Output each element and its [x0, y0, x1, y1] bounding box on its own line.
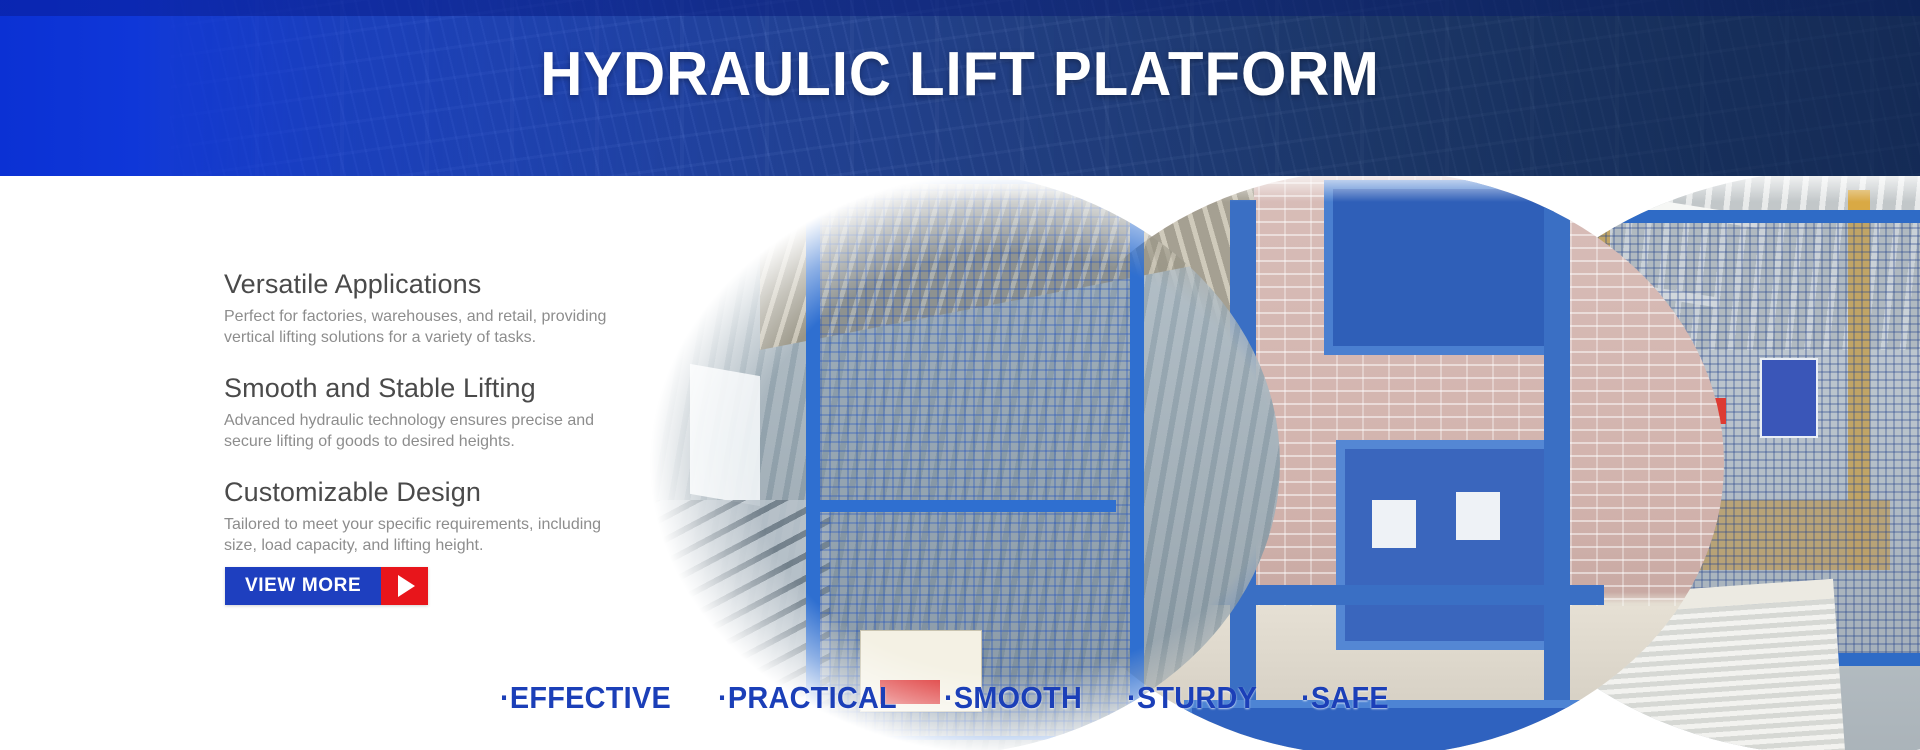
feature-desc-3: Tailored to meet your specific requireme…: [224, 514, 624, 556]
feature-desc-1: Perfect for factories, warehouses, and r…: [224, 306, 624, 348]
keyword-safe: ·SAFE: [1301, 680, 1389, 716]
page-title: HYDRAULIC LIFT PLATFORM: [58, 44, 1863, 106]
keyword-effective: ·EFFECTIVE: [500, 680, 671, 716]
feature-item-1: Versatile Applications Perfect for facto…: [224, 268, 654, 348]
feature-desc-2: Advanced hydraulic technology ensures pr…: [224, 410, 624, 452]
keyword-sturdy: ·STURDY: [1127, 680, 1257, 716]
photo2-pane-b: [1456, 492, 1500, 540]
product-photo-1: [640, 176, 1280, 750]
view-more-label[interactable]: VIEW MORE: [225, 567, 381, 605]
photo2-lower-gate: [1336, 440, 1566, 650]
keyword-list: ·EFFECTIVE ·PRACTICAL ·SMOOTH ·STURDY ·S…: [500, 680, 1395, 716]
keyword-smooth: ·SMOOTH: [944, 680, 1082, 716]
photo2-rail-right: [1544, 200, 1570, 720]
feature-title-2: Smooth and Stable Lifting: [224, 372, 654, 406]
feature-title-1: Versatile Applications: [224, 268, 654, 302]
feature-item-2: Smooth and Stable Lifting Advanced hydra…: [224, 372, 654, 452]
photo2-upper-gate: [1324, 180, 1554, 355]
feature-title-3: Customizable Design: [224, 476, 654, 510]
photo3-info-sign: [1760, 358, 1818, 438]
view-more-button[interactable]: VIEW MORE: [225, 567, 428, 605]
photo1-cage-crossbeam: [806, 500, 1116, 512]
photo1-window: [690, 364, 760, 506]
product-photo-strip: [640, 176, 1920, 750]
product-banner: HYDRAULIC LIFT PLATFORM: [0, 0, 1920, 750]
keyword-practical: ·PRACTICAL: [718, 680, 897, 716]
banner-header: HYDRAULIC LIFT PLATFORM: [0, 0, 1920, 176]
feature-list: Versatile Applications Perfect for facto…: [224, 268, 654, 580]
feature-item-3: Customizable Design Tailored to meet you…: [224, 476, 654, 556]
play-triangle-icon[interactable]: [381, 567, 428, 605]
photo2-pane-a: [1372, 500, 1416, 548]
header-top-shade: [0, 0, 1920, 16]
